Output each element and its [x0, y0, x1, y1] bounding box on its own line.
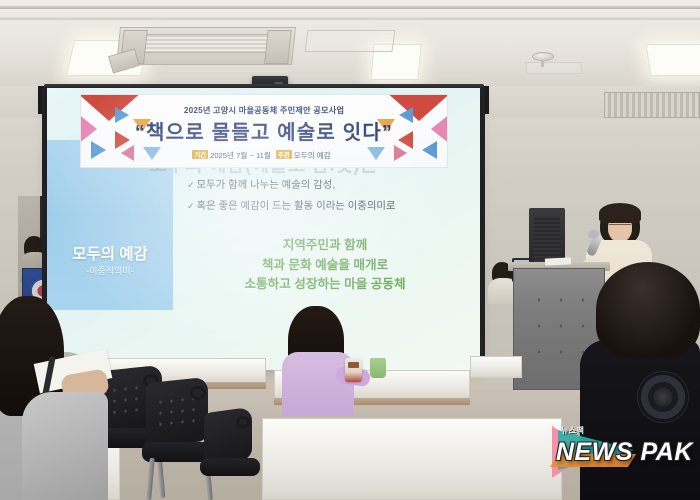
attendee-right-hair: [596, 262, 700, 358]
banner-title: “책으로 물들고 예술로 잇다”: [81, 116, 447, 145]
green-line: 책과 문화 예술을 매개로: [175, 256, 475, 276]
check-icon: ✓: [187, 201, 195, 211]
green-line: 소통하고 성장하는 마을 공동체: [175, 275, 475, 295]
banner-supertitle: 2025년 고양시 마을공동체 주민제안 공모사업: [81, 104, 447, 116]
slide-bullets: ✓모두가 함께 나누는 예술의 감성, ✓혹은 좋은 예감이 드는 활동 이라는…: [187, 176, 472, 218]
meta-tag-period: 기간: [192, 150, 208, 159]
meta-text-period: 2025년 7월 ~ 11월: [210, 151, 271, 160]
watermark-latin-text: NEWS PAK: [556, 438, 693, 467]
chair-handle: [236, 416, 250, 428]
banner-meta: 기간2025년 7월 ~ 11월주관모두의 예감: [81, 150, 447, 161]
screen-edge-right: [480, 88, 485, 372]
air-conditioner-vent: [116, 27, 296, 65]
vent-louvre: [264, 30, 292, 64]
check-icon: ✓: [187, 180, 195, 190]
left-panel-subtitle: -이중적의미-: [47, 264, 173, 277]
bullet-item: ✓모두가 함께 나누는 예술의 감성,: [187, 176, 472, 191]
bullet-text: 혹은 좋은 예감이 드는 활동 이라는 이중의미로: [197, 201, 396, 212]
watermark-korean-text: 뉴스팩: [561, 425, 584, 436]
child-body: [282, 352, 354, 416]
slide-banner: 2025년 고양시 마을공동체 주민제안 공모사업 “책으로 물들고 예술로 잇…: [80, 94, 448, 168]
bullet-item: ✓혹은 좋은 예감이 드는 활동 이라는 이중의미로: [187, 197, 472, 212]
meta-text-host: 모두의 예감: [294, 151, 331, 160]
projection-screen: 모두의 예감 -이중적의미- 모두의 예감(예술로 감.잇)은: [47, 88, 480, 370]
watermark: 뉴스팩 NEWS PAK: [552, 424, 700, 486]
photo-scene: 모두의 예감 -이중적의미- 모두의 예감(예술로 감.잇)은: [0, 0, 700, 500]
toy-figure: [345, 358, 362, 382]
ceiling-vent-outline: [304, 30, 395, 52]
speaker-grill: [534, 216, 560, 262]
attendee-left-shawl: [22, 392, 108, 500]
chair-perforation: [109, 381, 150, 418]
glasses-icon: [609, 224, 631, 229]
microphone-head: [588, 230, 599, 239]
presenter-fringe: [599, 203, 641, 223]
table-foreground: [262, 418, 562, 500]
ceiling-rail: [0, 6, 700, 9]
slide-green-block: 지역주민과 함께 책과 문화 예술을 매개로 소통하고 성장하는 마을 공동체: [175, 236, 475, 295]
smoke-detector-stem: [541, 60, 544, 67]
bullet-text: 모두가 함께 나누는 예술의 감성,: [197, 180, 336, 191]
left-panel-title: 모두의 예감: [47, 242, 173, 264]
chair-perforation: [155, 393, 196, 431]
vent-grill: [129, 34, 284, 53]
table-back: [470, 356, 522, 378]
ceiling-vent-outline: [525, 62, 583, 74]
chair-handle: [190, 386, 206, 400]
green-paper-cup: [370, 358, 386, 378]
green-line: 지역주민과 함께: [175, 236, 475, 256]
paper-handout: [545, 257, 571, 265]
chair-seat: [200, 458, 260, 476]
radiator: [604, 92, 700, 118]
jacket-embellishment: [638, 372, 688, 422]
meta-tag-host: 주관: [276, 150, 292, 159]
slide: 모두의 예감 -이중적의미- 모두의 예감(예술로 감.잇)은: [47, 88, 480, 370]
ceiling-rail-secondary: [0, 17, 700, 20]
ceiling-light-panel: [645, 44, 700, 76]
